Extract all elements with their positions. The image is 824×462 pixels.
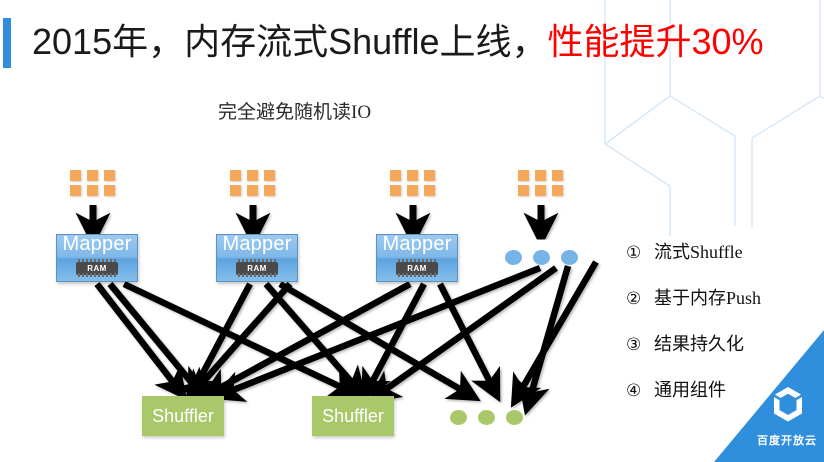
mapper-ellipsis-dot [505,250,522,265]
list-item-label: 流式Shuffle [654,238,743,264]
slide-root: 2015年，内存流式Shuffle上线，性能提升30% 完全避免随机读IO [0,0,824,462]
shuffler-ellipsis-dot [450,410,467,425]
ram-pins-bottom [398,273,436,277]
list-item: ② 基于内存Push [626,284,816,330]
list-item-number: ③ [626,335,654,355]
input-data-dots [70,170,116,196]
shuffler-ellipsis-dot [478,410,495,425]
data-dot [264,185,275,196]
mapper-ellipsis-dot [533,250,550,265]
ram-chip-icon: RAM [73,259,121,277]
corner-branding: 百度开放云 [714,330,824,462]
input-data-dots [230,170,276,196]
data-dot [87,185,98,196]
data-dot [407,185,418,196]
baidu-cloud-cube-icon [766,384,810,428]
data-dot [535,170,546,181]
data-dot [264,170,275,181]
data-dot [552,185,563,196]
data-dot [390,185,401,196]
mapper-node[interactable]: Mapper RAM [216,234,298,282]
shuffler-ellipsis-dot [506,410,523,425]
mapper-node[interactable]: Mapper RAM [56,234,138,282]
shuffler-node[interactable]: Shuffler [142,396,224,436]
data-dot [424,170,435,181]
data-dot [535,185,546,196]
data-dot [424,185,435,196]
data-dot [104,185,115,196]
shuffler-node[interactable]: Shuffler [312,396,394,436]
brand-name: 百度开放云 [757,432,817,448]
input-data-dots [518,170,564,196]
data-dot [518,170,529,181]
ram-pins-bottom [238,273,276,277]
ram-pins-bottom [78,273,116,277]
data-dot [518,185,529,196]
data-dot [407,170,418,181]
mapper-ellipsis-dot [561,250,578,265]
data-dot [104,170,115,181]
data-dot [390,170,401,181]
mapper-node[interactable]: Mapper RAM [376,234,458,282]
data-dot [247,185,258,196]
data-dot [230,170,241,181]
list-item: ① 流式Shuffle [626,238,816,284]
ram-chip-icon: RAM [393,259,441,277]
list-item-number: ① [626,243,654,263]
mapper-label: Mapper [57,233,137,256]
ram-chip-icon: RAM [233,259,281,277]
data-dot [87,170,98,181]
data-dot [552,170,563,181]
list-item-number: ④ [626,381,654,401]
input-data-dots [390,170,436,196]
data-dot [230,185,241,196]
data-dot [247,170,258,181]
data-dot [70,185,81,196]
mapper-label: Mapper [377,233,457,256]
mapper-label: Mapper [217,233,297,256]
list-item-label: 基于内存Push [654,284,761,310]
data-dot [70,170,81,181]
list-item-number: ② [626,289,654,309]
